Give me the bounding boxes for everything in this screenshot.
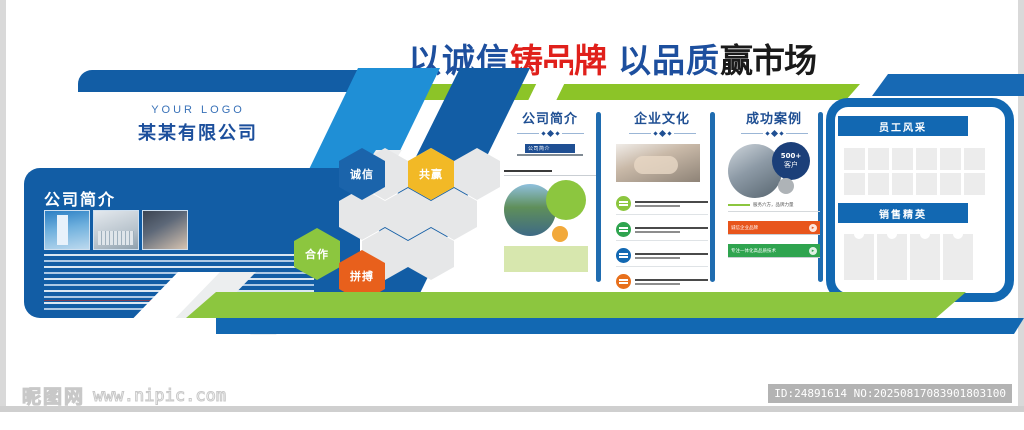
hexagon-hezuo[interactable]: 合作 — [294, 228, 340, 280]
equals-bullet-icon — [616, 248, 631, 263]
bullet-text-lines — [635, 201, 708, 207]
company-intro-title: 公司简介 — [44, 186, 116, 210]
headline-seg-4: 赢市场 — [720, 44, 816, 77]
column1-tag-label: 公司简介 — [528, 145, 550, 152]
logo-block: YOUR LOGO 某某有限公司 — [78, 104, 318, 145]
watermark: 昵图网 www.nipic.com — [22, 382, 226, 409]
staff-photo-cell — [916, 148, 937, 170]
column1-tag-shadow — [517, 154, 583, 156]
staff-photo-cell — [868, 148, 889, 170]
watermark-url: www.nipic.com — [93, 386, 226, 406]
column-cases: 成功案例 500+ 客户 服务六方，品牌力量 诚信企业品牌 ▸ 专注一体化高品质… — [728, 108, 820, 258]
case-rule — [728, 211, 820, 212]
orange-circle-shape — [552, 226, 568, 242]
arrow-right-icon: ▸ — [809, 247, 817, 255]
equals-bullet-icon — [616, 222, 631, 237]
bullet-text-lines — [635, 227, 708, 233]
list-item — [616, 222, 708, 237]
column1-graphic — [504, 184, 596, 236]
column1-rule-thin — [504, 175, 596, 176]
badge-number: 500+ — [781, 153, 801, 161]
dotted-divider-2 — [616, 131, 708, 136]
arrow-right-icon: ▸ — [809, 224, 817, 232]
bottom-blue-band — [150, 318, 1024, 334]
handshake-photo — [142, 210, 188, 250]
case-bar-2-label: 专注一体化高品质技术 — [731, 248, 776, 254]
column-title-2: 企业文化 — [616, 108, 708, 127]
bottom-green-band — [186, 292, 966, 318]
staff-photo-cell — [868, 173, 889, 195]
headline-blue-parallelogram — [872, 74, 1024, 96]
bullet-text-lines — [635, 279, 708, 285]
case-bar-1-label: 诚信企业品牌 — [731, 225, 758, 231]
column1-green-block — [504, 246, 588, 272]
case-caption-row: 服务六方，品牌力量 — [728, 202, 820, 208]
hexagon-label-4: 拼搏 — [350, 268, 374, 284]
equals-bullet-icon — [616, 196, 631, 211]
staff-photo-cell — [940, 173, 961, 195]
column-culture: 企业文化 — [616, 108, 708, 293]
sales-card-grid — [844, 234, 973, 280]
gray-circle-shape — [778, 178, 794, 194]
case-bar-2-shadow — [728, 257, 820, 258]
column-title-1: 公司简介 — [504, 108, 596, 127]
staff-photo-grid — [844, 148, 985, 195]
staff-photo-cell — [892, 148, 913, 170]
sales-card — [910, 234, 940, 280]
column1-rule — [504, 170, 552, 172]
company-intro-photos — [44, 210, 188, 250]
column1-tag-box: 公司简介 — [525, 144, 575, 153]
watermark-site-name: 昵图网 — [22, 382, 85, 409]
sales-card — [943, 234, 973, 280]
hexagon-label-2: 共赢 — [419, 166, 443, 182]
sales-banner: 销售精英 — [838, 203, 968, 223]
staff-banner: 员工风采 — [838, 116, 968, 136]
case-bar-1[interactable]: 诚信企业品牌 ▸ — [728, 221, 820, 234]
staff-photo-cell — [844, 173, 865, 195]
staff-photo-cell — [844, 148, 865, 170]
column-company-intro: 公司简介 公司简介 — [504, 108, 596, 272]
logo-en-text: YOUR LOGO — [78, 104, 318, 116]
green-circle-shape — [546, 180, 586, 220]
case-bar-1-shadow — [728, 234, 820, 235]
frame-edge-right — [1018, 0, 1024, 412]
bullet-underline — [616, 240, 708, 241]
bottom-white-notch — [96, 318, 216, 334]
badge-label: 客户 — [784, 161, 798, 169]
staff-photo-cell — [892, 173, 913, 195]
hexagon-cluster: 诚信 共赢 合作 拼搏 — [300, 140, 530, 300]
list-item — [616, 196, 708, 211]
hexagon-label-3: 合作 — [305, 246, 329, 262]
column-title-3: 成功案例 — [728, 108, 820, 127]
equals-bullet-icon — [616, 274, 631, 289]
staff-photo-cell — [964, 148, 985, 170]
bullet-text-lines — [635, 253, 708, 259]
sales-card — [844, 234, 874, 280]
case-caption: 服务六方，品牌力量 — [753, 202, 794, 208]
sales-card — [877, 234, 907, 280]
column-divider-1 — [596, 112, 601, 282]
bullet-underline — [616, 266, 708, 267]
column-divider-2 — [710, 112, 715, 282]
headline-seg-3: 以品质 — [618, 44, 720, 77]
handshake-wide-photo — [616, 144, 700, 182]
list-item — [616, 248, 708, 263]
company-name: 某某有限公司 — [78, 119, 318, 145]
keyboard-photo — [93, 210, 139, 250]
image-id-badge: ID:24891614 NO:20250817083901803100 — [768, 384, 1012, 403]
culture-bullet-list — [616, 196, 708, 293]
bullet-underline — [616, 214, 708, 215]
staff-photo-cell — [916, 173, 937, 195]
frame-edge-left — [0, 0, 6, 412]
customer-count-badge: 500+ 客户 — [772, 142, 810, 180]
list-item — [616, 274, 708, 289]
staff-photo-cell — [964, 173, 985, 195]
building-photo — [44, 210, 90, 250]
hexagon-label-1: 诚信 — [350, 166, 374, 182]
sales-banner-label: 销售精英 — [879, 206, 927, 221]
dotted-divider-3 — [728, 131, 820, 136]
dotted-divider-1 — [504, 131, 596, 136]
wall-design-canvas: 以诚信 铸品牌 以品质 赢市场 YOUR LOGO 某某有限公司 公司简介 — [0, 0, 1024, 430]
case-bar-2[interactable]: 专注一体化高品质技术 ▸ — [728, 244, 820, 257]
staff-photo-cell — [940, 148, 961, 170]
staff-banner-label: 员工风采 — [879, 119, 927, 134]
case-graphic: 500+ 客户 — [728, 144, 820, 198]
